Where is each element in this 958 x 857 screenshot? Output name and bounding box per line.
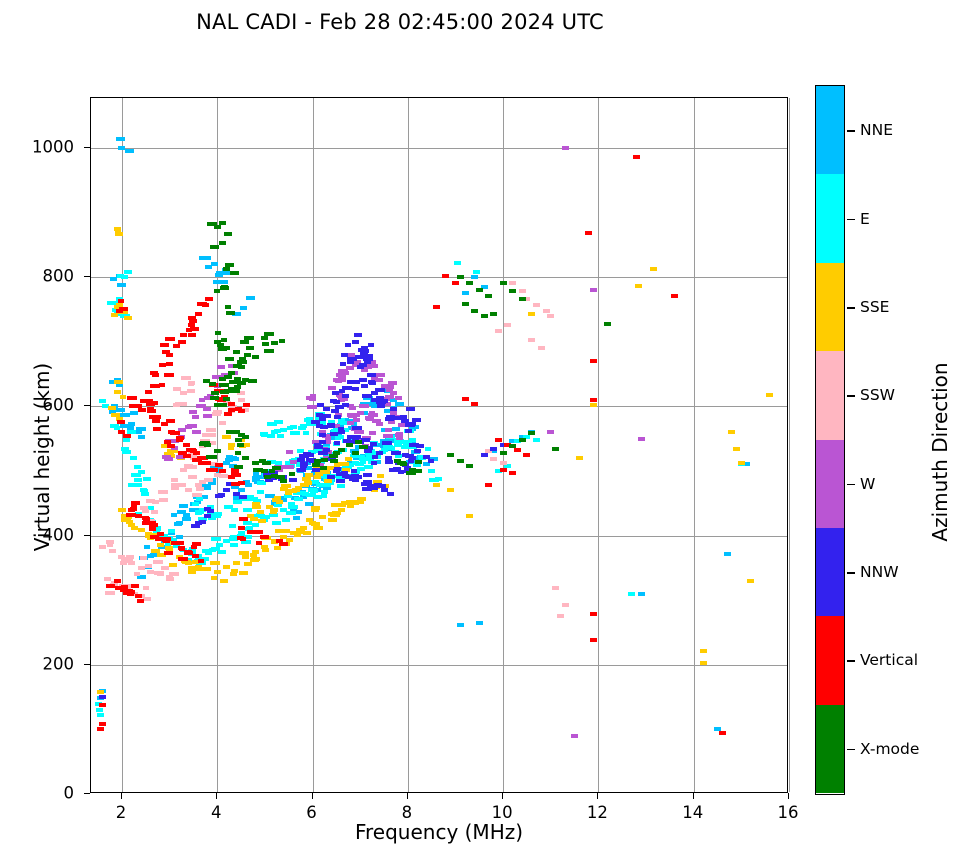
- echo-marker-NNE: [462, 291, 469, 295]
- echo-marker-NNW: [340, 362, 346, 366]
- colorbar-segment-ssw[interactable]: [816, 351, 844, 439]
- echo-marker-SSW: [159, 498, 168, 502]
- echo-marker-Vertical: [145, 390, 152, 394]
- echo-marker-X-mode: [352, 451, 359, 455]
- echo-marker-NNW: [347, 360, 354, 364]
- echo-marker-NNW: [405, 429, 412, 433]
- echo-marker-NNW: [331, 409, 339, 413]
- echo-marker-Vertical: [590, 612, 597, 616]
- echo-marker-X-mode: [248, 379, 257, 383]
- echo-marker-SSE: [210, 561, 220, 565]
- y-tick-400: [84, 535, 90, 536]
- echo-marker-E: [143, 477, 151, 481]
- echo-marker-NNE: [211, 262, 218, 266]
- echo-marker-NNE: [233, 457, 239, 461]
- echo-marker-NNE: [117, 283, 126, 287]
- echo-marker-NNW: [370, 442, 377, 446]
- echo-marker-NNW: [334, 415, 341, 419]
- echo-marker-SSW: [171, 478, 178, 482]
- echo-marker-NNE: [116, 137, 125, 141]
- echo-marker-Vertical: [462, 397, 469, 401]
- echo-marker-X-mode: [259, 459, 266, 463]
- echo-marker-NNW: [361, 384, 368, 388]
- echo-marker-E: [272, 521, 281, 525]
- echo-marker-NNW: [390, 407, 397, 411]
- colorbar-tick-x-mode: [847, 749, 855, 751]
- echo-marker-W: [187, 424, 197, 428]
- echo-marker-SSE: [728, 430, 735, 434]
- echo-marker-X-mode: [346, 443, 353, 447]
- echo-marker-NNW: [428, 459, 434, 463]
- echo-marker-X-mode: [314, 459, 321, 463]
- echo-marker-E: [337, 484, 345, 488]
- x-tick-8: [407, 793, 408, 799]
- echo-marker-SSE: [303, 531, 311, 535]
- echo-marker-Vertical: [243, 403, 250, 407]
- echo-marker-NNW: [385, 417, 394, 421]
- echo-marker-SSE: [313, 526, 323, 530]
- echo-marker-SSE: [747, 579, 754, 583]
- echo-marker-Vertical: [198, 461, 205, 465]
- echo-marker-SSW: [528, 338, 535, 342]
- echo-marker-X-mode: [289, 472, 295, 476]
- echo-marker-X-mode: [239, 357, 246, 361]
- echo-marker-Vertical: [123, 434, 131, 438]
- echo-marker-SSE: [287, 489, 297, 493]
- echo-marker-SSE: [252, 505, 261, 509]
- colorbar-segment-e[interactable]: [816, 174, 844, 262]
- echo-marker-NNW: [327, 475, 335, 479]
- echo-marker-E: [211, 547, 220, 551]
- echo-marker-SSE: [242, 555, 249, 559]
- echo-marker-Vertical: [159, 383, 165, 387]
- echo-marker-X-mode: [210, 245, 219, 249]
- echo-marker-W: [192, 415, 199, 419]
- colorbar-segment-vertical[interactable]: [816, 616, 844, 704]
- echo-marker-NNW: [371, 391, 378, 395]
- echo-marker-X-mode: [271, 341, 278, 345]
- echo-marker-SSW: [181, 376, 191, 380]
- echo-marker-X-mode: [228, 387, 237, 391]
- echo-marker-X-mode: [219, 241, 226, 245]
- echo-marker-X-mode: [471, 309, 478, 313]
- echo-marker-SSE: [447, 488, 454, 492]
- echo-marker-W: [384, 385, 394, 389]
- echo-marker-W: [217, 365, 225, 369]
- echo-marker-W: [203, 414, 212, 418]
- echo-marker-Vertical: [97, 727, 104, 731]
- echo-marker-X-mode: [219, 403, 227, 407]
- echo-marker-SSE: [330, 513, 340, 517]
- x-tick-16: [788, 793, 789, 799]
- echo-marker-W: [286, 465, 294, 469]
- colorbar-segment-sse[interactable]: [816, 263, 844, 351]
- echo-marker-NNW: [409, 422, 416, 426]
- echo-marker-NNE: [392, 427, 400, 431]
- echo-marker-SSW: [209, 433, 216, 437]
- echo-marker-NNE: [246, 296, 255, 300]
- echo-marker-Vertical: [167, 444, 175, 448]
- echo-marker-Vertical: [238, 526, 245, 530]
- page-title: NAL CADI - Feb 28 02:45:00 2024 UTC: [0, 10, 800, 34]
- echo-marker-X-mode: [490, 312, 497, 316]
- echo-marker-NNW: [391, 451, 401, 455]
- echo-marker-SSE: [528, 312, 535, 316]
- echo-marker-NNW: [319, 433, 326, 437]
- echo-marker-Vertical: [719, 731, 726, 735]
- echo-marker-X-mode: [320, 466, 327, 470]
- echo-marker-E: [195, 510, 204, 514]
- echo-marker-E: [196, 497, 203, 501]
- echo-marker-X-mode: [264, 332, 274, 336]
- echo-marker-SSW: [105, 591, 115, 595]
- echo-marker-X-mode: [220, 286, 229, 290]
- echo-marker-E: [192, 502, 199, 506]
- echo-marker-NNW: [342, 386, 352, 390]
- echo-marker-SSE: [352, 501, 359, 505]
- echo-marker-NNW: [481, 453, 488, 457]
- echo-marker-X-mode: [211, 391, 219, 395]
- echo-marker-NNW: [372, 455, 378, 459]
- echo-marker-X-mode: [359, 445, 368, 449]
- echo-marker-W: [388, 381, 397, 385]
- echo-marker-SSW: [509, 281, 516, 285]
- echo-marker-Vertical: [260, 535, 269, 539]
- echo-marker-X-mode: [280, 479, 287, 483]
- echo-marker-Vertical: [442, 274, 449, 278]
- echo-marker-X-mode: [476, 288, 483, 292]
- echo-marker-E: [277, 434, 284, 438]
- echo-marker-NNW: [204, 507, 211, 511]
- echo-marker-SSW: [538, 346, 545, 350]
- echo-marker-X-mode: [411, 469, 420, 473]
- plot-area: [90, 97, 788, 793]
- echo-marker-Vertical: [131, 584, 139, 588]
- echo-marker-X-mode: [235, 451, 241, 455]
- colorbar-label-ssw: SSW: [860, 386, 895, 404]
- echo-marker-NNW: [398, 470, 404, 474]
- echo-marker-X-mode: [552, 447, 559, 451]
- echo-marker-NNE: [125, 149, 134, 153]
- echo-marker-X-mode: [225, 263, 234, 267]
- echo-marker-NNE: [231, 485, 239, 489]
- echo-marker-Vertical: [176, 436, 184, 440]
- echo-marker-Vertical: [500, 468, 507, 472]
- echo-marker-SSW: [562, 603, 569, 607]
- echo-marker-NNW: [336, 479, 345, 483]
- echo-marker-NNW: [352, 387, 359, 391]
- echo-marker-SSE: [635, 284, 642, 288]
- echo-marker-Vertical: [239, 517, 248, 521]
- x-tick-4: [216, 793, 217, 799]
- colorbar-label-w: W: [860, 475, 875, 493]
- echo-marker-SSW: [500, 461, 507, 465]
- echo-marker-SSW: [490, 457, 497, 461]
- colorbar-tick-nnw: [847, 572, 855, 574]
- echo-marker-E: [294, 497, 303, 501]
- colorbar-tick-e: [847, 219, 855, 221]
- echo-marker-E: [216, 543, 223, 547]
- echo-marker-E: [269, 513, 275, 517]
- echo-marker-NNW: [374, 483, 382, 487]
- echo-marker-E: [205, 551, 212, 555]
- echo-marker-SSE: [302, 477, 311, 481]
- echo-marker-SSW: [547, 314, 554, 318]
- echo-marker-E: [211, 537, 221, 541]
- echo-marker-Vertical: [452, 281, 459, 285]
- echo-marker-W: [346, 366, 354, 370]
- echo-marker-NNE: [638, 592, 645, 596]
- echo-marker-W: [203, 407, 211, 411]
- echo-marker-X-mode: [233, 364, 242, 368]
- echo-marker-X-mode: [237, 443, 244, 447]
- echo-marker-NNW: [412, 418, 421, 422]
- echo-marker-NNW: [414, 449, 421, 453]
- echo-marker-SSE: [270, 508, 278, 512]
- echo-marker-SSW: [161, 566, 169, 570]
- echo-marker-W: [571, 734, 578, 738]
- echo-marker-E: [267, 434, 275, 438]
- colorbar-label-nne: NNE: [860, 121, 893, 139]
- echo-marker-Vertical: [115, 586, 124, 590]
- x-axis-title: Frequency (MHz): [90, 820, 788, 844]
- echo-marker-Vertical: [205, 297, 213, 301]
- echo-marker-E: [303, 431, 309, 435]
- echo-marker-W: [347, 413, 354, 417]
- echo-marker-X-mode: [240, 340, 248, 344]
- echo-marker-E: [409, 438, 416, 442]
- echo-marker-E: [131, 473, 141, 477]
- echo-marker-X-mode: [223, 397, 230, 401]
- echo-marker-SSE: [274, 496, 281, 500]
- echo-marker-SSE: [311, 522, 320, 526]
- echo-marker-NNW: [401, 419, 409, 423]
- echo-marker-NNE: [182, 517, 191, 521]
- echo-marker-E: [124, 270, 132, 274]
- echo-marker-Vertical: [181, 333, 187, 337]
- echo-marker-Vertical: [162, 350, 170, 354]
- echo-marker-Vertical: [164, 551, 173, 555]
- y-tick-label-200: 200: [14, 654, 74, 673]
- echo-marker-SSW: [128, 561, 135, 565]
- echo-marker-X-mode: [462, 302, 469, 306]
- echo-marker-E: [168, 529, 175, 533]
- echo-marker-NNW: [311, 420, 320, 424]
- echo-marker-E: [135, 483, 142, 487]
- echo-marker-X-mode: [252, 461, 259, 465]
- echo-marker-SSE: [118, 508, 126, 512]
- echo-marker-X-mode: [226, 430, 234, 434]
- echo-marker-NNW: [363, 357, 373, 361]
- echo-marker-E: [134, 465, 141, 469]
- echo-marker-SSW: [207, 478, 213, 482]
- echo-marker-X-mode: [199, 442, 209, 446]
- echo-marker-Vertical: [148, 521, 156, 525]
- echo-marker-SSE: [111, 413, 120, 417]
- echo-marker-SSE: [345, 457, 352, 461]
- echo-marker-NNW: [322, 414, 331, 418]
- echo-marker-NNE: [177, 510, 186, 514]
- echo-marker-SSW: [106, 540, 114, 544]
- echo-marker-SSW: [557, 614, 564, 618]
- echo-marker-NNE: [395, 402, 404, 406]
- echo-marker-W: [359, 404, 369, 408]
- echo-marker-Vertical: [240, 537, 246, 541]
- echo-marker-E: [310, 489, 318, 493]
- echo-marker-SSW: [206, 428, 216, 432]
- echo-marker-SSW: [171, 486, 179, 490]
- echo-marker-NNW: [368, 343, 374, 347]
- echo-marker-NNE: [176, 535, 183, 539]
- echo-marker-SSE: [165, 546, 173, 550]
- azimuth-colorbar[interactable]: NNEESSESSWWNNWVerticalX-mode: [815, 85, 845, 795]
- echo-marker-SSE: [738, 461, 745, 465]
- echo-marker-NNW: [416, 444, 424, 448]
- echo-marker-SSW: [140, 506, 148, 510]
- echo-marker-W: [396, 436, 403, 440]
- echo-marker-NNW: [354, 333, 362, 337]
- colorbar-segment-w[interactable]: [816, 440, 844, 528]
- echo-marker-SSW: [180, 402, 187, 406]
- echo-marker-X-mode: [466, 281, 473, 285]
- colorbar-segment-nnw[interactable]: [816, 528, 844, 616]
- colorbar-segment-nne[interactable]: [816, 86, 844, 174]
- echo-marker-Vertical: [149, 527, 156, 531]
- echo-marker-W: [369, 431, 376, 435]
- echo-marker-Vertical: [198, 559, 204, 563]
- colorbar-label-e: E: [860, 210, 870, 228]
- echo-marker-W: [306, 396, 312, 400]
- echo-marker-E: [628, 592, 635, 596]
- echo-marker-NNW: [423, 455, 430, 459]
- echo-marker-SSE: [188, 570, 196, 574]
- echo-marker-SSE: [169, 563, 177, 567]
- echo-marker-SSW: [138, 566, 145, 570]
- echo-marker-X-mode: [262, 342, 269, 346]
- echo-marker-X-mode: [279, 339, 285, 343]
- x-tick-10: [502, 793, 503, 799]
- echo-marker-NNW: [376, 396, 384, 400]
- echo-marker-X-mode: [234, 465, 243, 469]
- echo-marker-NNW: [351, 469, 357, 473]
- echo-marker-X-mode: [214, 449, 221, 453]
- echo-marker-X-mode: [500, 281, 507, 285]
- echo-marker-SSW: [109, 549, 116, 553]
- echo-marker-NNW: [385, 460, 393, 464]
- echo-marker-Vertical: [131, 504, 137, 508]
- echo-marker-Vertical: [433, 305, 440, 309]
- echo-marker-SSE: [251, 557, 260, 561]
- echo-marker-SSE: [97, 690, 104, 694]
- echo-marker-Vertical: [590, 359, 597, 363]
- echo-marker-NNW: [239, 495, 247, 499]
- echo-marker-NNW: [289, 478, 295, 482]
- echo-marker-W: [376, 373, 385, 377]
- echo-marker-X-mode: [224, 375, 232, 379]
- echo-marker-Vertical: [185, 550, 192, 554]
- echo-marker-Vertical: [166, 362, 173, 366]
- echo-marker-X-mode: [264, 349, 274, 353]
- echo-marker-Vertical: [153, 427, 161, 431]
- echo-marker-X-mode: [225, 305, 231, 309]
- echo-marker-SSW: [166, 577, 174, 581]
- echo-marker-W: [192, 430, 201, 434]
- echo-marker-NNW: [371, 461, 377, 465]
- echo-marker-NNW: [364, 449, 372, 453]
- colorbar-tick-sse: [847, 307, 855, 309]
- echo-marker-SSW: [188, 381, 195, 385]
- echo-marker-SSE: [211, 576, 217, 580]
- echo-marker-NNE: [221, 280, 228, 284]
- echo-marker-Vertical: [117, 420, 125, 424]
- echo-marker-Vertical: [118, 299, 124, 303]
- echo-marker-X-mode: [221, 338, 227, 342]
- echo-marker-Vertical: [228, 402, 235, 406]
- echo-marker-SSE: [233, 561, 240, 565]
- echo-marker-Vertical: [155, 537, 165, 541]
- echo-marker-NNW: [387, 492, 394, 496]
- echo-marker-X-mode: [519, 297, 526, 301]
- echo-marker-NNW: [330, 432, 338, 436]
- echo-marker-SSW: [158, 490, 168, 494]
- echo-marker-NNE: [293, 516, 300, 520]
- echo-marker-NNW: [320, 425, 328, 429]
- echo-marker-SSE: [286, 538, 293, 542]
- colorbar-label-vertical: Vertical: [860, 651, 918, 669]
- echo-marker-SSE: [252, 550, 259, 554]
- echo-marker-Vertical: [137, 599, 144, 603]
- echo-marker-Vertical: [138, 408, 146, 412]
- echo-marker-NNW: [406, 407, 415, 411]
- echo-marker-SSW: [140, 556, 147, 560]
- colorbar-label-x-mode: X-mode: [860, 740, 919, 758]
- echo-marker-NNE: [204, 256, 211, 260]
- echo-marker-SSE: [650, 267, 657, 271]
- echo-marker-SSE: [228, 446, 234, 450]
- echo-marker-NNW: [352, 340, 359, 344]
- echo-marker-E: [243, 508, 252, 512]
- echo-marker-NNW: [375, 388, 385, 392]
- echo-marker-X-mode: [447, 453, 454, 457]
- echo-marker-E: [388, 446, 395, 450]
- x-tick-2: [121, 793, 122, 799]
- echo-marker-Vertical: [197, 302, 207, 306]
- echo-marker-NNE: [116, 408, 125, 412]
- echo-marker-Vertical: [471, 402, 478, 406]
- colorbar-segment-x-mode[interactable]: [816, 705, 844, 793]
- echo-marker-Vertical: [231, 482, 240, 486]
- echo-marker-NNE: [138, 435, 145, 439]
- echo-marker-X-mode: [457, 459, 464, 463]
- echo-marker-Vertical: [165, 337, 175, 341]
- echo-marker-Vertical: [590, 398, 597, 402]
- echo-marker-Vertical: [166, 419, 175, 423]
- echo-marker-Vertical: [192, 554, 199, 558]
- gridline-x-16: [789, 98, 790, 792]
- echo-marker-W: [162, 455, 171, 459]
- echo-marker-SSE: [223, 565, 230, 569]
- echo-marker-X-mode: [275, 475, 285, 479]
- colorbar-title: Azimuth Direction: [928, 302, 952, 602]
- echo-marker-SSW: [187, 389, 195, 393]
- echo-marker-SSW: [126, 555, 134, 559]
- echo-marker-E: [99, 399, 106, 403]
- echo-marker-Vertical: [178, 557, 188, 561]
- echo-marker-E: [128, 483, 135, 487]
- echo-marker-Vertical: [164, 373, 174, 377]
- echo-marker-SSE: [283, 529, 290, 533]
- echo-marker-SSE: [121, 518, 131, 522]
